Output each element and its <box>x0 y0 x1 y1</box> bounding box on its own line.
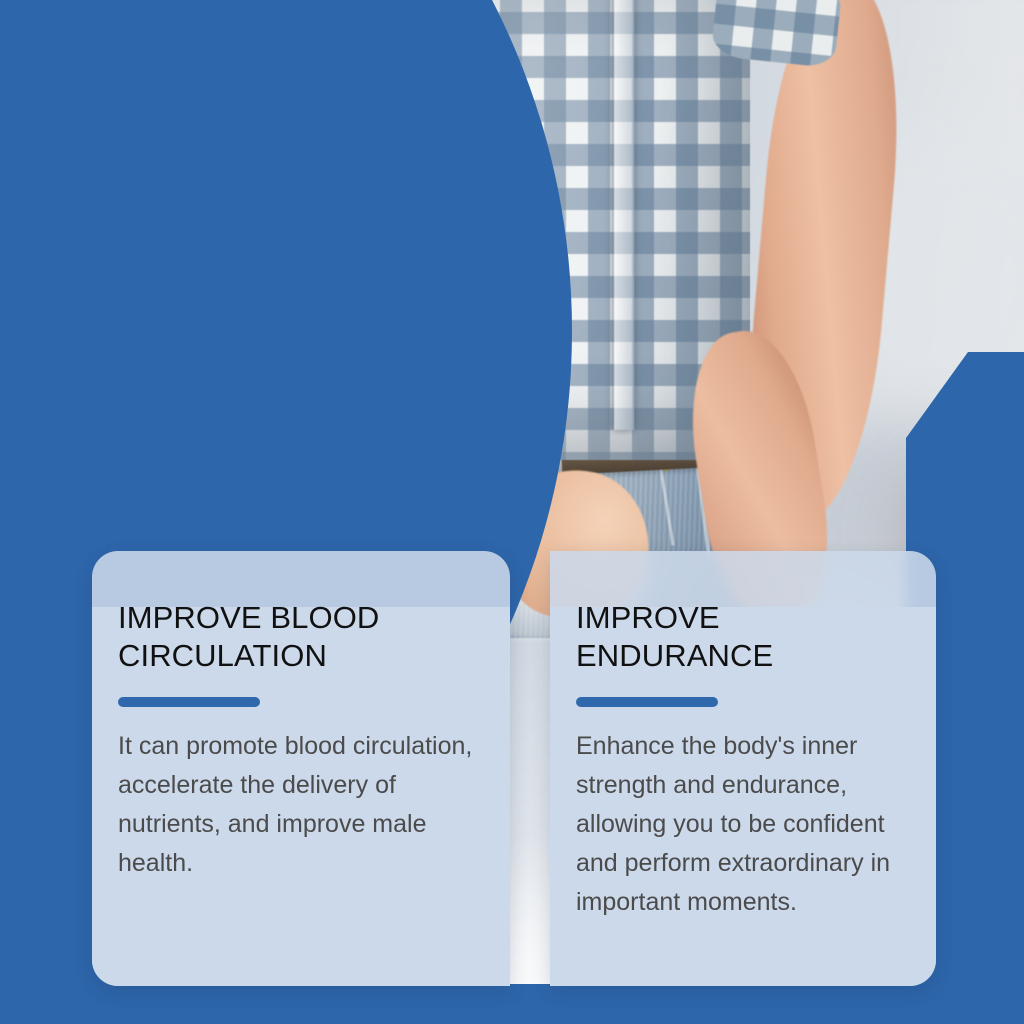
feature-card-body: Enhance the body's inner strength and en… <box>576 727 906 922</box>
feature-card-title: IMPROVE ENDURANCE <box>576 599 906 675</box>
feature-card-endurance[interactable]: IMPROVE ENDURANCE Enhance the body's inn… <box>550 551 936 986</box>
infographic-canvas: IMPROVE BLOOD CIRCULATION It can promote… <box>0 0 1024 1024</box>
shirt-placket <box>614 0 634 430</box>
feature-card-title: IMPROVE BLOOD CIRCULATION <box>118 599 480 675</box>
accent-rule <box>118 697 260 707</box>
feature-card-body: It can promote blood circulation, accele… <box>118 727 480 883</box>
blue-bottom-band <box>0 984 1024 1024</box>
feature-card-blood-circulation[interactable]: IMPROVE BLOOD CIRCULATION It can promote… <box>92 551 510 986</box>
accent-rule <box>576 697 718 707</box>
